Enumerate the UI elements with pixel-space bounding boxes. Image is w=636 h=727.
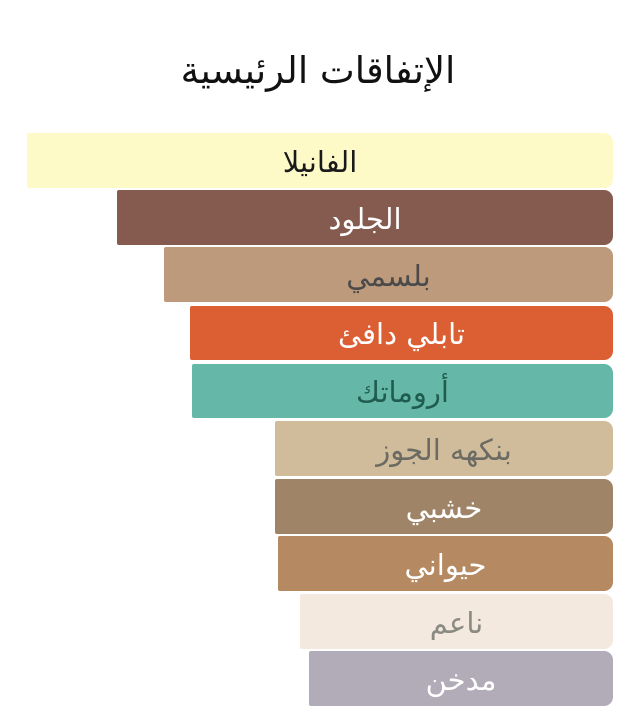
bar-row[interactable]: بلسمي (164, 247, 613, 302)
bar-label: مدخن (309, 663, 613, 697)
bar-label: ناعم (300, 606, 613, 640)
bar-label: أروماتك (192, 375, 613, 409)
bar-label: خشبي (275, 491, 613, 525)
bar-row[interactable]: الفانيلا (27, 133, 613, 188)
bar-row[interactable]: أروماتك (192, 364, 613, 418)
bar-label: تابلي دافئ (190, 317, 613, 351)
chart-container: الإتفاقات الرئيسية الفانيلاالجلودبلسميتا… (0, 0, 636, 727)
bar-row[interactable]: خشبي (275, 479, 613, 534)
bar-row[interactable]: تابلي دافئ (190, 306, 613, 360)
bar-label: حيواني (278, 548, 613, 582)
bar-row[interactable]: بنكهه الجوز (275, 421, 613, 476)
bar-row[interactable]: ناعم (300, 594, 613, 649)
bar-label: الجلود (117, 202, 613, 236)
bar-row[interactable]: حيواني (278, 536, 613, 591)
bar-row[interactable]: الجلود (117, 190, 613, 245)
bar-row[interactable]: مدخن (309, 651, 613, 706)
bar-series: الفانيلاالجلودبلسميتابلي دافئأروماتكبنكه… (0, 0, 636, 727)
bar-label: بلسمي (164, 259, 613, 293)
bar-label: الفانيلا (27, 145, 613, 179)
bar-label: بنكهه الجوز (275, 433, 613, 467)
